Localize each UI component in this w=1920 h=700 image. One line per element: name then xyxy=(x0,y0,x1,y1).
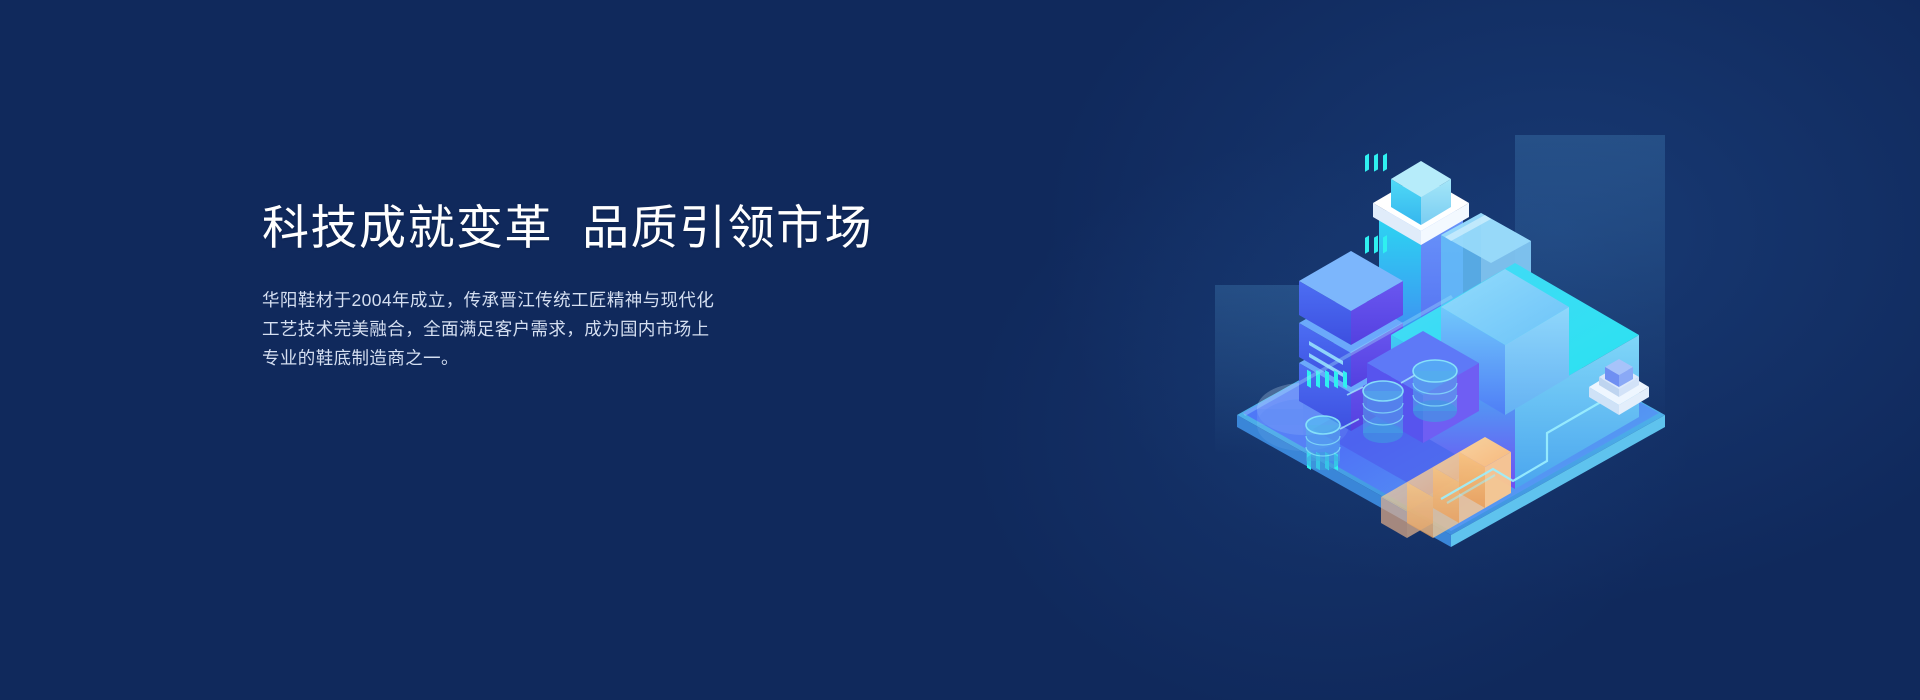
tank-b xyxy=(1363,381,1403,443)
hero-banner: 科技成就变革 品质引领市场 华阳鞋材于2004年成立，传承晋江传统工匠精神与现代… xyxy=(0,0,1920,700)
hero-text-block: 科技成就变革 品质引领市场 华阳鞋材于2004年成立，传承晋江传统工匠精神与现代… xyxy=(262,196,962,373)
hero-description: 华阳鞋材于2004年成立，传承晋江传统工匠精神与现代化 工艺技术完美融合，全面满… xyxy=(262,286,882,373)
tank-a xyxy=(1413,360,1457,422)
hero-illustration xyxy=(1195,95,1715,555)
tank-c xyxy=(1306,416,1340,470)
page-title: 科技成就变革 品质引领市场 xyxy=(262,196,962,260)
